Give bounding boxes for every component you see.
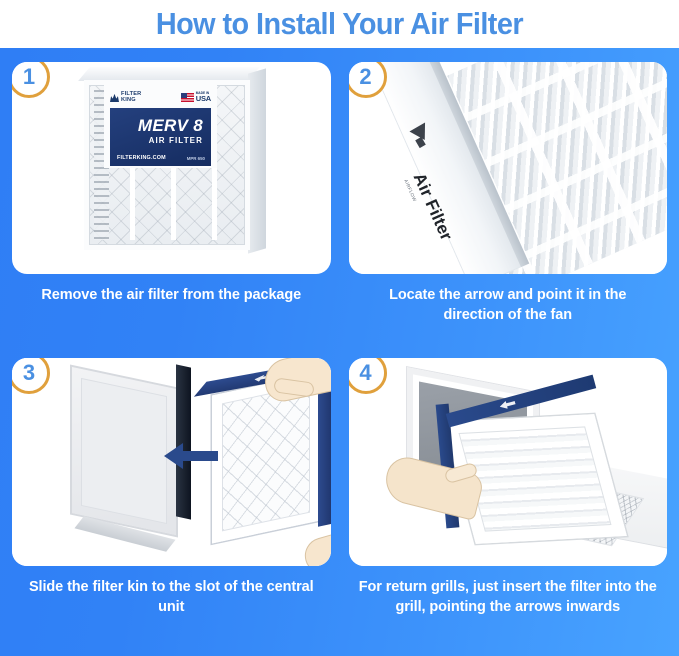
step-1-card: FILTER KING MADE IN USA	[12, 62, 331, 274]
hvac-slot-inner	[81, 378, 167, 524]
origin-text: MADE IN USA	[196, 92, 211, 103]
step-4: 4 For return grills, just insert the fil…	[349, 358, 668, 650]
step-1: FILTER KING MADE IN USA	[12, 62, 331, 354]
air-filter-product-photo: FILTER KING MADE IN USA	[12, 62, 331, 274]
filter-corner-photo: Air Filter AIRFLOW	[349, 62, 668, 274]
hand-lower	[301, 526, 331, 566]
brand-lockup: FILTER KING	[110, 92, 141, 103]
filter-panel-front	[212, 373, 320, 544]
made-in-usa-badge: MADE IN USA	[181, 92, 211, 103]
brand-name: FILTER KING	[121, 92, 141, 103]
step-4-caption: For return grills, just insert the filte…	[349, 577, 668, 617]
grill-louvers	[458, 426, 611, 531]
steps-grid: FILTER KING MADE IN USA	[0, 48, 679, 656]
title-band: How to Install Your Air Filter	[0, 0, 679, 48]
label-subtitle: AIR FILTER	[110, 136, 203, 145]
hvac-slot-housing	[70, 365, 178, 538]
step-1-caption: Remove the air filter from the package	[12, 285, 331, 305]
step-3-caption: Slide the filter kin to the slot of the …	[12, 577, 331, 617]
crown-icon	[110, 93, 119, 102]
mpr-rating: MPR 650	[187, 156, 205, 161]
label-header-row: FILTER KING MADE IN USA	[110, 90, 211, 105]
filter-mesh-face	[222, 385, 310, 532]
step-4-card: 4	[349, 358, 668, 566]
origin-country: USA	[196, 95, 211, 103]
step-3: 3 Slide the filter kin to the slot of th…	[12, 358, 331, 650]
hvac-slot-opening	[176, 364, 191, 519]
return-grill-illustration	[349, 358, 668, 566]
filter-top-edge	[78, 67, 260, 81]
step-2-card: Air Filter AIRFLOW 2	[349, 62, 668, 274]
step-2-caption: Locate the arrow and point it in the dir…	[349, 285, 668, 325]
merv-rating: MERV 8	[110, 117, 203, 134]
infographic-root: How to Install Your Air Filter	[0, 0, 679, 656]
filter-side-edge	[248, 68, 266, 253]
insertion-direction-arrow	[182, 451, 218, 461]
filter-slot-illustration	[12, 358, 331, 566]
website-text: FILTERKING.COM	[117, 155, 166, 161]
filter-product-label: FILTER KING MADE IN USA	[104, 85, 217, 168]
label-blue-block: MERV 8 AIR FILTER FILTERKING.COM MPR 650	[110, 108, 211, 166]
filter-product-image: FILTER KING MADE IN USA	[84, 80, 250, 250]
usa-flag-icon	[181, 93, 194, 102]
step-2: Air Filter AIRFLOW 2 Locate the arrow an…	[349, 62, 668, 354]
brand-line-2: KING	[121, 97, 136, 103]
step-3-card: 3	[12, 358, 331, 566]
page-title: How to Install Your Air Filter	[156, 6, 523, 42]
label-footer-row: FILTERKING.COM MPR 650	[117, 155, 205, 161]
filter-right-frame	[318, 373, 331, 527]
